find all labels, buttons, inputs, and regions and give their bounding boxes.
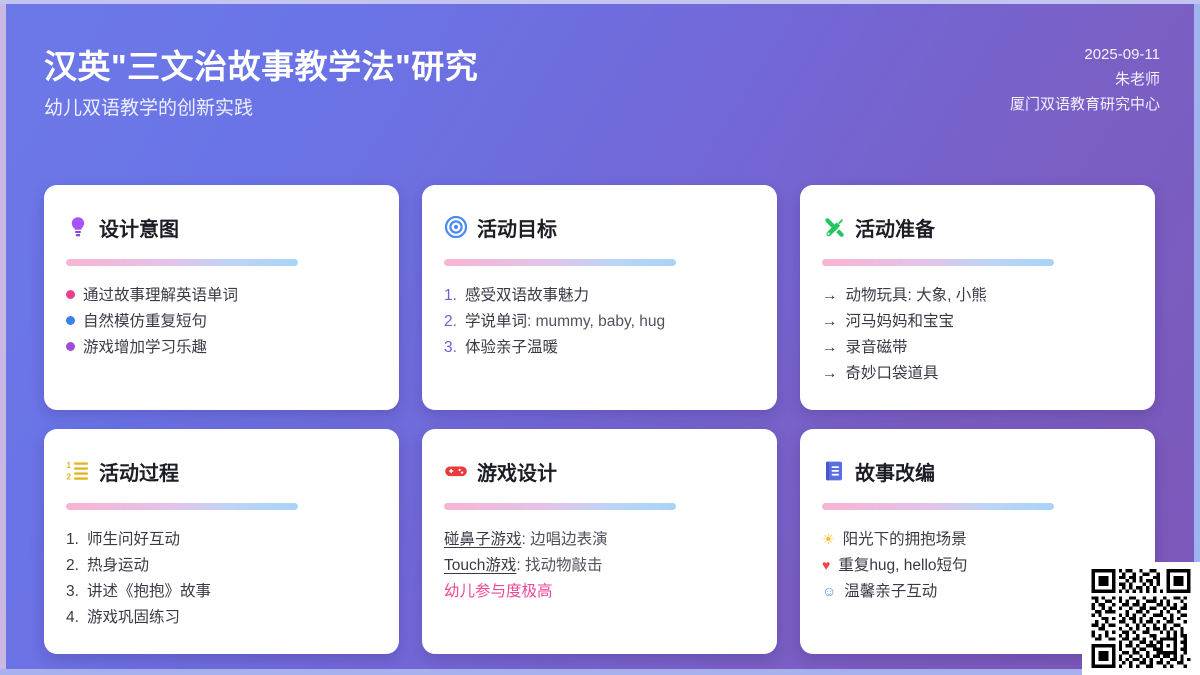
- card-header: 活动准备: [822, 211, 1133, 243]
- page-title: 汉英"三文治故事教学法"研究: [44, 40, 478, 88]
- list-item-suffix: : mummy, baby, hug: [527, 309, 665, 335]
- card-body: 通过故事理解英语单词 自然模仿重复短句 游戏增加学习乐趣: [66, 283, 377, 361]
- card-header: 游戏设计: [444, 455, 755, 487]
- slide-edge-bottom: [0, 669, 1200, 675]
- card-body: 1. 师生问好互动 2. 热身运动 3. 讲述《抱抱》故事 4. 游戏巩固练习: [66, 527, 377, 631]
- lightbulb-icon: [66, 215, 90, 239]
- list-item-label: 感受双语故事魅力: [465, 283, 589, 309]
- list-item-label: 体验亲子温暖: [465, 335, 558, 361]
- arrow-icon: →: [822, 309, 838, 335]
- list-item: → 河马妈妈和宝宝: [822, 309, 1133, 335]
- card-divider: [66, 503, 298, 510]
- list-item-label: 河马妈妈和宝宝: [846, 309, 955, 335]
- card-activity-prep[interactable]: 活动准备 → 动物玩具: 大象, 小熊 → 河马妈妈和宝宝 → 录音磁带 →: [800, 185, 1155, 410]
- header-meta: 2025-09-11 朱老师 厦门双语教育研究中心: [1010, 42, 1160, 117]
- tools-icon: [822, 215, 846, 239]
- qr-code[interactable]: [1082, 562, 1200, 675]
- list-item: 4. 游戏巩固练习: [66, 605, 377, 631]
- svg-text:1: 1: [67, 461, 72, 470]
- card-game-design[interactable]: 游戏设计 碰鼻子游戏: 边唱边表演 Touch游戏: 找动物敲击 幼儿参与度极高: [422, 429, 777, 654]
- list-item: Touch游戏: 找动物敲击: [444, 553, 755, 579]
- slide-header: 汉英"三文治故事教学法"研究 幼儿双语教学的创新实践 2025-09-11 朱老…: [0, 0, 1200, 168]
- list-item-label: 学说单词: [465, 309, 527, 335]
- card-header: 设计意图: [66, 211, 377, 243]
- list-item: 通过故事理解英语单词: [66, 283, 377, 309]
- list-item: ☀ 阳光下的拥抱场景: [822, 527, 1133, 553]
- arrow-icon: →: [822, 283, 838, 309]
- card-title: 故事改编: [855, 457, 935, 486]
- card-grid: 设计意图 通过故事理解英语单词 自然模仿重复短句 游戏增加学习乐趣: [44, 185, 1156, 650]
- list-item: 游戏增加学习乐趣: [66, 335, 377, 361]
- bullet-dot-icon: [66, 283, 75, 309]
- card-title: 活动准备: [855, 213, 935, 242]
- list-item-label: 热身运动: [87, 553, 149, 579]
- card-divider: [444, 259, 676, 266]
- list-item-number: 1.: [66, 527, 79, 553]
- list-item-label: 讲述《抱抱》故事: [87, 579, 211, 605]
- list-item-label: 阳光下的拥抱场景: [843, 527, 967, 553]
- card-design-intent[interactable]: 设计意图 通过故事理解英语单词 自然模仿重复短句 游戏增加学习乐趣: [44, 185, 399, 410]
- list-item: 3. 体验亲子温暖: [444, 335, 755, 361]
- list-item: → 奇妙口袋道具: [822, 361, 1133, 387]
- list-item: 1. 师生问好互动: [66, 527, 377, 553]
- list-item: → 录音磁带: [822, 335, 1133, 361]
- arrow-icon: →: [822, 361, 838, 387]
- game-term: 碰鼻子游戏: [444, 527, 522, 553]
- book-icon: [822, 459, 846, 483]
- card-title: 活动目标: [477, 213, 557, 242]
- svg-text:2: 2: [67, 473, 72, 482]
- list-item-number: 4.: [66, 605, 79, 631]
- list-item-label: 自然模仿重复短句: [83, 309, 207, 335]
- page-subtitle: 幼儿双语教学的创新实践: [44, 93, 253, 120]
- meta-date: 2025-09-11: [1010, 42, 1160, 67]
- card-divider: [822, 503, 1054, 510]
- card-divider: [822, 259, 1054, 266]
- list-item-number: 3.: [66, 579, 79, 605]
- card-body: 1. 感受双语故事魅力 2. 学说单词: mummy, baby, hug 3.…: [444, 283, 755, 361]
- list-item-label: 动物玩具: 大象, 小熊: [846, 283, 987, 309]
- list-item: 1. 感受双语故事魅力: [444, 283, 755, 309]
- list-item: → 动物玩具: 大象, 小熊: [822, 283, 1133, 309]
- card-header: 1 2 活动过程: [66, 455, 377, 487]
- list-item-label: 师生问好互动: [87, 527, 180, 553]
- list-item-number: 2.: [444, 309, 457, 335]
- ordered-list-icon: 1 2: [66, 459, 90, 483]
- game-highlight: 幼儿参与度极高: [444, 579, 553, 605]
- card-body: → 动物玩具: 大象, 小熊 → 河马妈妈和宝宝 → 录音磁带 → 奇妙口袋道具: [822, 283, 1133, 387]
- slide-root: 汉英"三文治故事教学法"研究 幼儿双语教学的创新实践 2025-09-11 朱老…: [0, 0, 1200, 675]
- list-item-label: 游戏增加学习乐趣: [83, 335, 207, 361]
- list-item-label: 游戏巩固练习: [87, 605, 180, 631]
- game-desc: : 边唱边表演: [522, 527, 608, 553]
- list-item-label: 温馨亲子互动: [844, 579, 937, 605]
- list-item: 3. 讲述《抱抱》故事: [66, 579, 377, 605]
- gamepad-icon: [444, 459, 468, 483]
- list-item-number: 2.: [66, 553, 79, 579]
- target-icon: [444, 215, 468, 239]
- list-item-label: 录音磁带: [846, 335, 908, 361]
- card-title: 活动过程: [99, 457, 179, 486]
- card-title: 游戏设计: [477, 457, 557, 486]
- list-item: 幼儿参与度极高: [444, 579, 755, 605]
- game-term: Touch游戏: [444, 553, 516, 579]
- list-item: 2. 学说单词: mummy, baby, hug: [444, 309, 755, 335]
- bullet-dot-icon: [66, 335, 75, 361]
- list-item: 自然模仿重复短句: [66, 309, 377, 335]
- smiley-icon: ☺: [822, 584, 836, 598]
- meta-organization: 厦门双语教育研究中心: [1010, 92, 1160, 117]
- qr-code-image: [1089, 569, 1193, 668]
- card-divider: [444, 503, 676, 510]
- bullet-dot-icon: [66, 309, 75, 335]
- card-header: 故事改编: [822, 455, 1133, 487]
- card-header: 活动目标: [444, 211, 755, 243]
- list-item-label: 奇妙口袋道具: [846, 361, 939, 387]
- list-item-label: 重复hug, hello短句: [838, 553, 967, 579]
- heart-icon: ♥: [822, 558, 830, 572]
- sun-icon: ☀: [822, 532, 835, 546]
- list-item-number: 1.: [444, 283, 457, 309]
- list-item: 碰鼻子游戏: 边唱边表演: [444, 527, 755, 553]
- meta-author: 朱老师: [1010, 67, 1160, 92]
- list-item: 2. 热身运动: [66, 553, 377, 579]
- arrow-icon: →: [822, 335, 838, 361]
- list-item-number: 3.: [444, 335, 457, 361]
- card-body: 碰鼻子游戏: 边唱边表演 Touch游戏: 找动物敲击 幼儿参与度极高: [444, 527, 755, 605]
- card-divider: [66, 259, 298, 266]
- game-desc: : 找动物敲击: [516, 553, 602, 579]
- card-title: 设计意图: [99, 213, 179, 242]
- list-item-label: 通过故事理解英语单词: [83, 283, 238, 309]
- card-activity-goals[interactable]: 活动目标 1. 感受双语故事魅力 2. 学说单词: mummy, baby, h…: [422, 185, 777, 410]
- card-activity-process[interactable]: 1 2 活动过程 1. 师生问好互动 2. 热身运动: [44, 429, 399, 654]
